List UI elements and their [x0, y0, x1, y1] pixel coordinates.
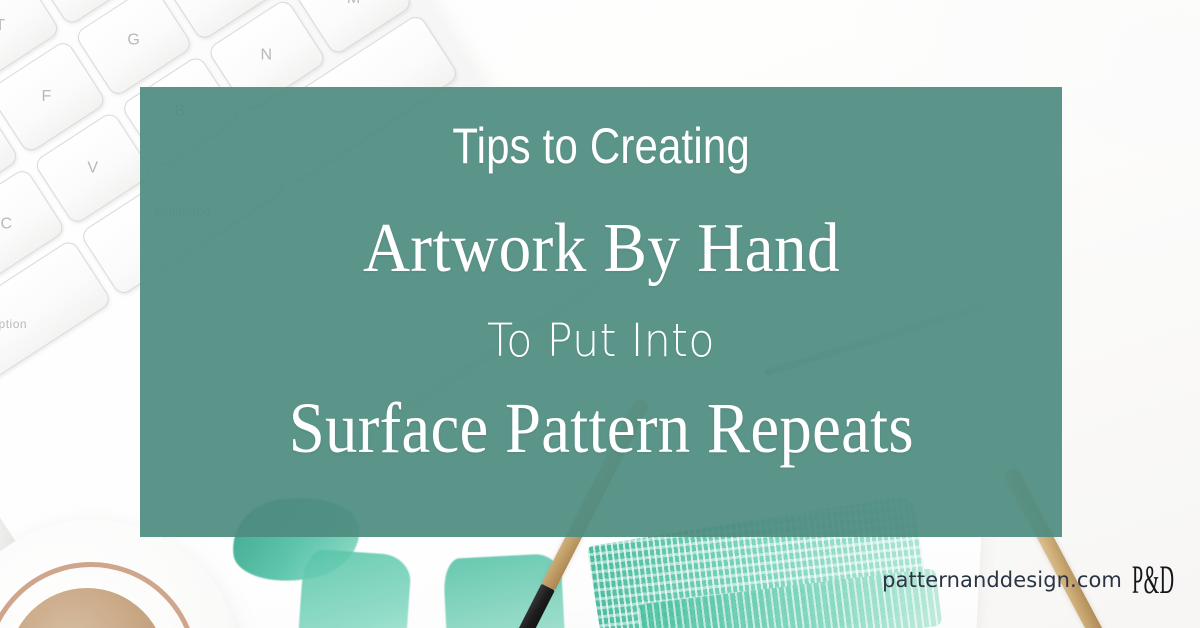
footer-branding: patternanddesign.com P&D — [882, 560, 1178, 600]
paint-stroke — [296, 548, 412, 628]
headline-block: Tips to Creating Artwork By Hand To Put … — [140, 87, 1062, 537]
website-domain[interactable]: patternanddesign.com — [882, 568, 1122, 592]
pd-logo: P&D — [1132, 560, 1155, 600]
headline-line-4: Surface Pattern Repeats — [288, 391, 913, 467]
keyboard-key-option: option — [0, 238, 113, 410]
headline-line-1: Tips to Creating — [452, 119, 750, 174]
pin-graphic-canvas: $ % ^ & * ( 4 5 6 7 8 9 E R T Y U I S D — [0, 0, 1200, 628]
headline-line-2: Artwork By Hand — [362, 212, 839, 286]
headline-line-3: To Put Into — [487, 316, 715, 366]
